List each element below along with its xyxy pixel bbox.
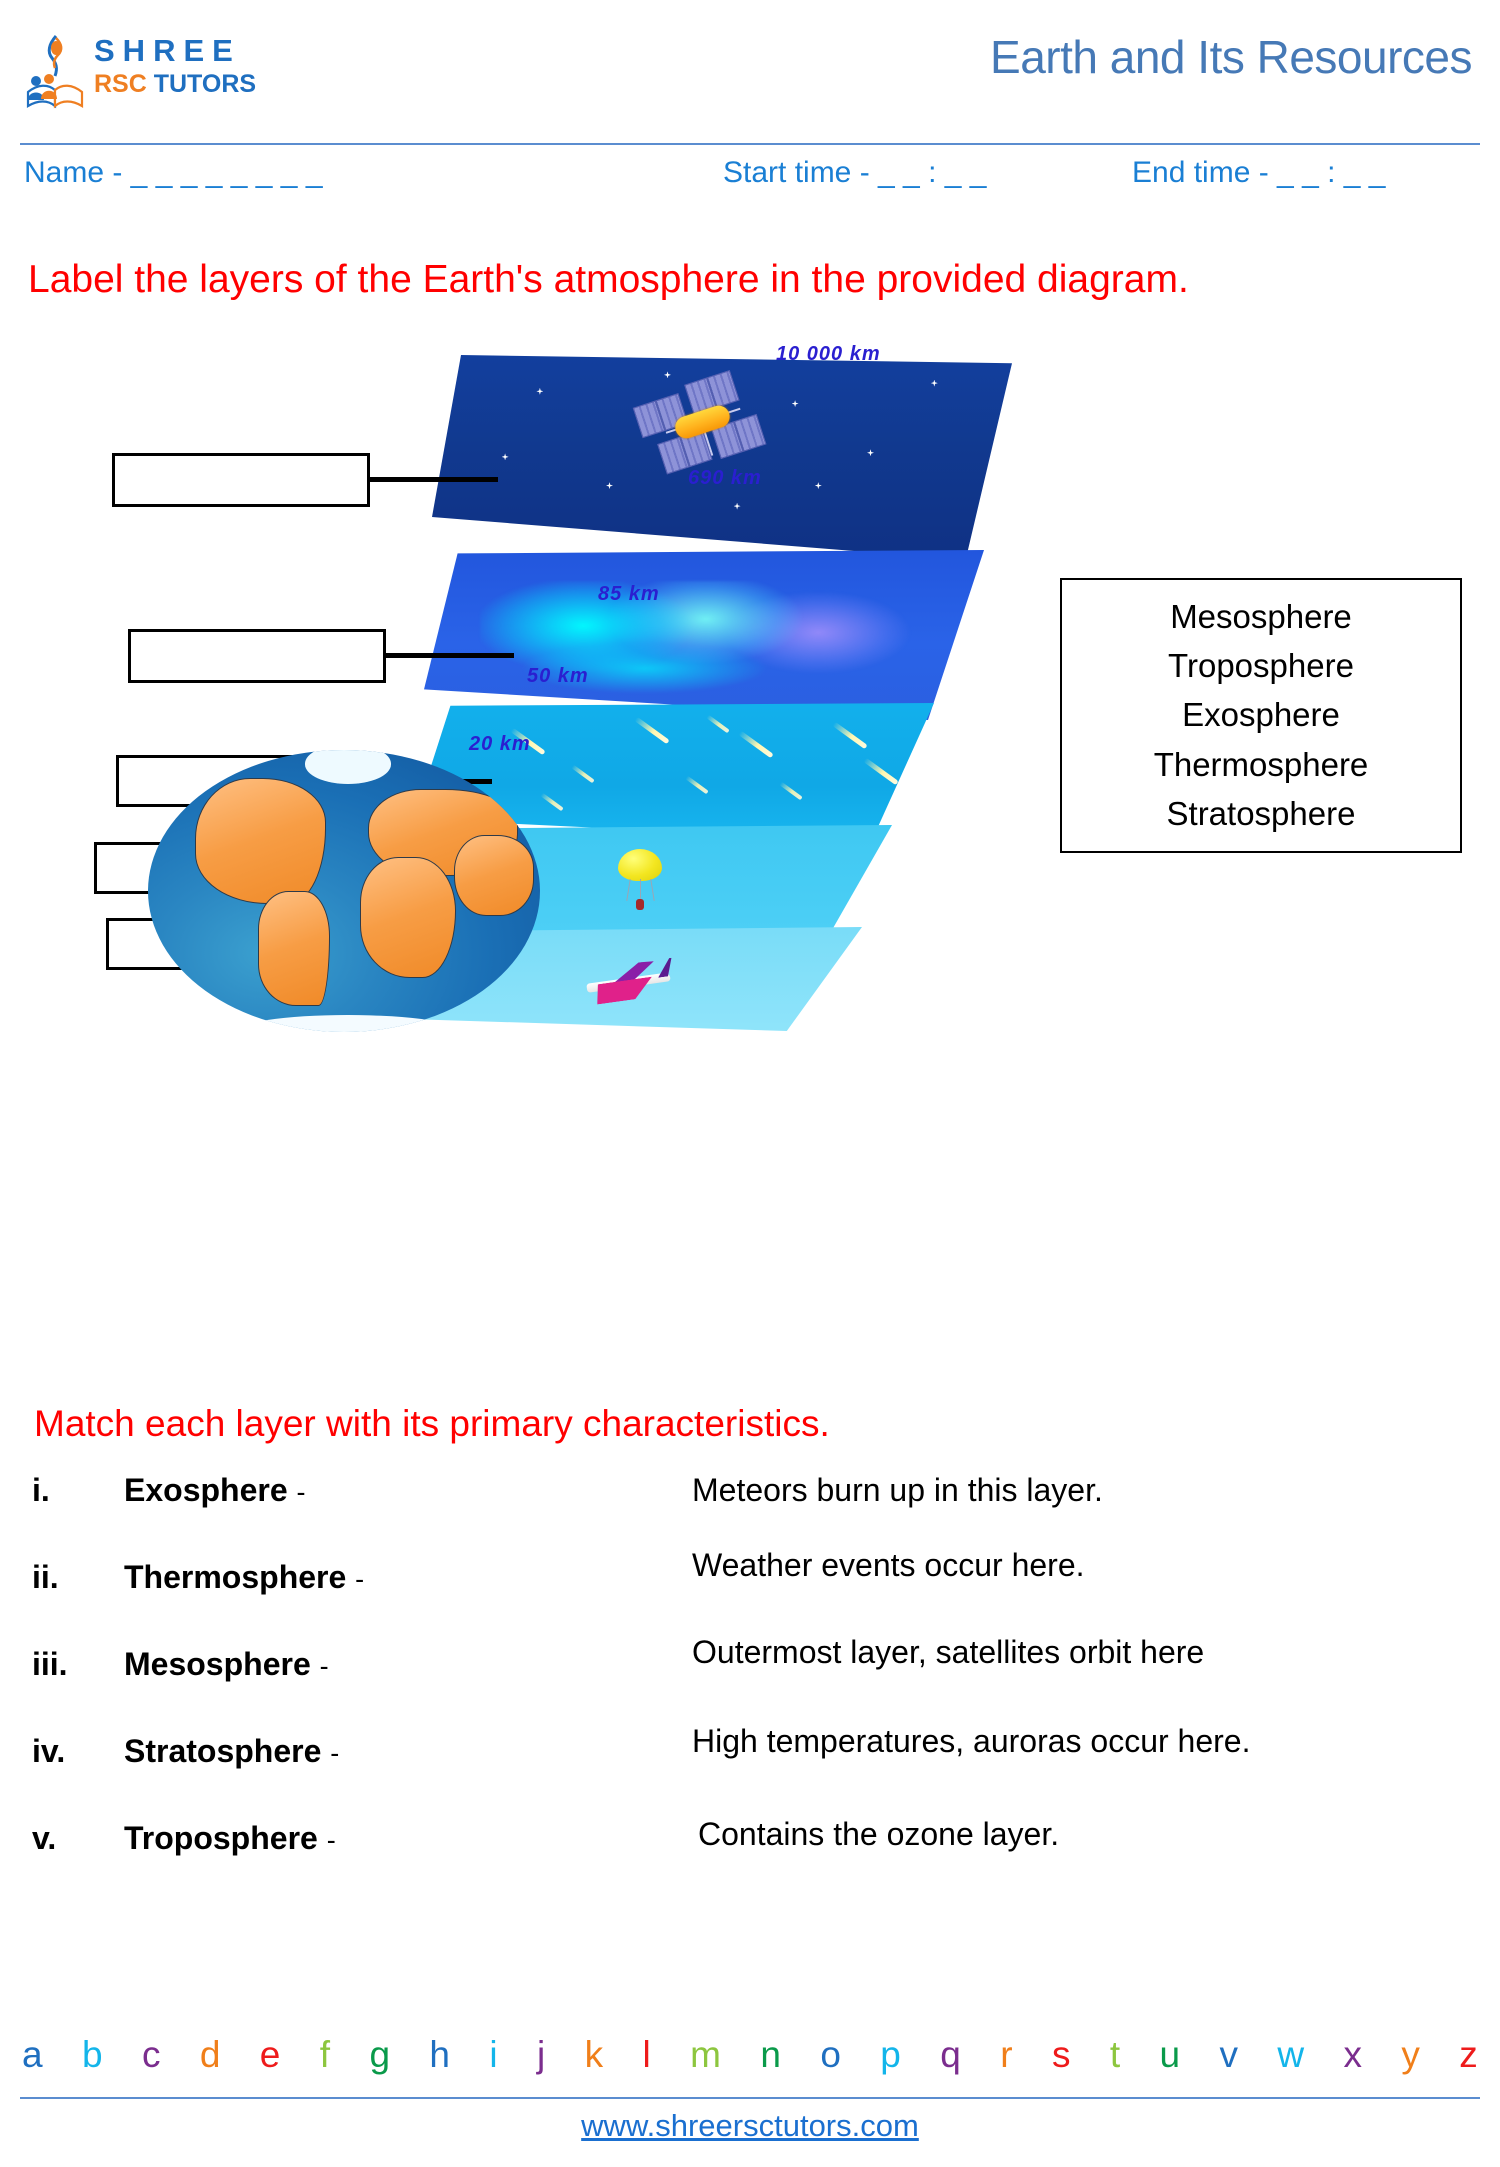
matching-row-2-term-text: Thermosphere <box>124 1559 346 1595</box>
alphabet-letter-w: w <box>1277 2034 1304 2076</box>
exosphere-band <box>432 355 1012 560</box>
start-time-field-label[interactable]: Start time - _ _ : _ _ <box>723 156 986 190</box>
matching-row-3: iii. Mesosphere - Outermost layer, satel… <box>0 1646 1500 1734</box>
matching-row-5-term-text: Troposphere <box>124 1820 318 1856</box>
word-bank-item-exosphere[interactable]: Exosphere <box>1182 695 1340 735</box>
satellite-icon <box>624 360 774 482</box>
word-bank-item-stratosphere[interactable]: Stratosphere <box>1167 794 1356 834</box>
matching-row-1-dash: - <box>297 1477 306 1507</box>
alphabet-letter-e: e <box>260 2034 281 2076</box>
alphabet-letter-t: t <box>1110 2034 1120 2076</box>
page-header: SHREE RSC TUTORS Earth and Its Resources <box>0 0 1500 140</box>
alphabet-letter-v: v <box>1219 2034 1238 2076</box>
footer-divider <box>20 2097 1480 2099</box>
matching-row-2-dash: - <box>355 1564 364 1594</box>
alphabet-letter-j: j <box>537 2034 545 2076</box>
student-meta-row: Name - _ _ _ _ _ _ _ _ Start time - _ _ … <box>0 156 1500 206</box>
matching-row-4-number: iv. <box>32 1733 112 1770</box>
logo-tutors-text: TUTORS <box>154 70 256 98</box>
alphabet-letter-u: u <box>1160 2034 1181 2076</box>
matching-row-5-number: v. <box>32 1820 112 1857</box>
matching-row-4-description[interactable]: High temperatures, auroras occur here. <box>692 1723 1250 1760</box>
logo-book-flame-icon <box>22 32 88 110</box>
airplane-icon <box>578 952 679 1007</box>
alphabet-letter-x: x <box>1344 2034 1363 2076</box>
altitude-label-10000km: 10 000 km <box>776 343 881 366</box>
matching-row-5-term[interactable]: Troposphere - <box>124 1820 336 1857</box>
logo-wordmark: SHREE RSC TUTORS <box>94 34 256 100</box>
alphabet-letters: abcdefghijklmnopqrstuvwxyz <box>0 2034 1500 2076</box>
matching-row-2-term[interactable]: Thermosphere - <box>124 1559 364 1596</box>
footer-website-link[interactable]: www.shreersctutors.com <box>0 2108 1500 2144</box>
word-bank-item-troposphere[interactable]: Troposphere <box>1168 646 1354 686</box>
alphabet-letter-m: m <box>690 2034 721 2076</box>
altitude-label-85km: 85 km <box>598 583 660 606</box>
alphabet-letter-h: h <box>429 2034 450 2076</box>
altitude-label-50km: 50 km <box>527 665 589 688</box>
matching-row-2-description[interactable]: Weather events occur here. <box>692 1547 1085 1584</box>
thermosphere-band <box>424 550 984 720</box>
name-field-label[interactable]: Name - _ _ _ _ _ _ _ _ <box>24 156 323 190</box>
weather-balloon-icon <box>618 849 662 915</box>
alphabet-letter-r: r <box>1000 2034 1012 2076</box>
matching-row-1-term-text: Exosphere <box>124 1472 288 1508</box>
answer-box-exosphere[interactable] <box>112 453 370 507</box>
earth-globe-graphic <box>148 750 540 1032</box>
page-title: Earth and Its Resources <box>990 30 1472 84</box>
worksheet-page: SHREE RSC TUTORS Earth and Its Resources… <box>0 0 1500 2167</box>
alphabet-letter-k: k <box>585 2034 604 2076</box>
alphabet-letter-y: y <box>1401 2034 1420 2076</box>
matching-row-1-term[interactable]: Exosphere - <box>124 1472 306 1509</box>
alphabet-letter-z: z <box>1459 2034 1478 2076</box>
alphabet-letter-b: b <box>82 2034 103 2076</box>
matching-row-3-term[interactable]: Mesosphere - <box>124 1646 329 1683</box>
alphabet-letter-f: f <box>320 2034 330 2076</box>
word-bank-item-mesosphere[interactable]: Mesosphere <box>1170 597 1352 637</box>
word-bank-list: Mesosphere Troposphere Exosphere Thermos… <box>1060 578 1462 853</box>
word-bank-item-thermosphere[interactable]: Thermosphere <box>1154 745 1369 785</box>
matching-row-4-dash: - <box>330 1738 339 1768</box>
matching-row-1-description[interactable]: Meteors burn up in this layer. <box>692 1472 1103 1509</box>
header-divider <box>20 143 1480 145</box>
alphabet-letter-n: n <box>760 2034 781 2076</box>
matching-row-4-term-text: Stratosphere <box>124 1733 321 1769</box>
altitude-label-20km: 20 km <box>469 733 531 756</box>
alphabet-letter-s: s <box>1052 2034 1071 2076</box>
leader-line-1 <box>368 477 498 482</box>
matching-row-1-number: i. <box>32 1472 112 1509</box>
matching-row-5: v. Troposphere - Contains the ozone laye… <box>0 1820 1500 1908</box>
end-time-field-label[interactable]: End time - _ _ : _ _ <box>1132 156 1385 190</box>
matching-row-4: iv. Stratosphere - High temperatures, au… <box>0 1733 1500 1821</box>
alphabet-letter-q: q <box>940 2034 961 2076</box>
matching-row-5-description[interactable]: Contains the ozone layer. <box>698 1816 1059 1853</box>
matching-row-3-term-text: Mesosphere <box>124 1646 311 1682</box>
alphabet-letter-c: c <box>142 2034 161 2076</box>
alphabet-letter-g: g <box>369 2034 390 2076</box>
shree-rsc-tutors-logo: SHREE RSC TUTORS <box>22 28 292 114</box>
matching-row-3-description[interactable]: Outermost layer, satellites orbit here <box>692 1634 1204 1671</box>
alphabet-strip: abcdefghijklmnopqrstuvwxyz <box>0 2028 1500 2082</box>
alphabet-letter-a: a <box>22 2034 43 2076</box>
alphabet-letter-p: p <box>880 2034 901 2076</box>
altitude-label-690km: 690 km <box>688 467 762 490</box>
answer-box-thermosphere[interactable] <box>128 629 386 683</box>
question-2-instruction: Match each layer with its primary charac… <box>34 1400 1334 1448</box>
alphabet-letter-i: i <box>489 2034 497 2076</box>
matching-row-5-dash: - <box>327 1825 336 1855</box>
matching-exercise: i. Exosphere - Meteors burn up in this l… <box>0 1472 1500 2012</box>
matching-row-2-number: ii. <box>32 1559 112 1596</box>
matching-row-4-term[interactable]: Stratosphere - <box>124 1733 339 1770</box>
logo-rsc-text: RSC <box>94 70 154 98</box>
logo-primary-text: SHREE <box>94 34 256 68</box>
atmosphere-diagram: 10 000 km 690 km 85 km 50 km 20 km <box>0 355 1060 1355</box>
word-bank: Mesosphere Troposphere Exosphere Thermos… <box>1060 578 1462 853</box>
leader-line-2 <box>384 653 514 658</box>
matching-row-3-dash: - <box>320 1651 329 1681</box>
question-1-instruction: Label the layers of the Earth's atmosphe… <box>28 254 1348 306</box>
matching-row-3-number: iii. <box>32 1646 112 1683</box>
alphabet-letter-d: d <box>200 2034 221 2076</box>
alphabet-letter-o: o <box>820 2034 841 2076</box>
logo-secondary-text: RSC TUTORS <box>94 68 256 100</box>
alphabet-letter-l: l <box>643 2034 651 2076</box>
